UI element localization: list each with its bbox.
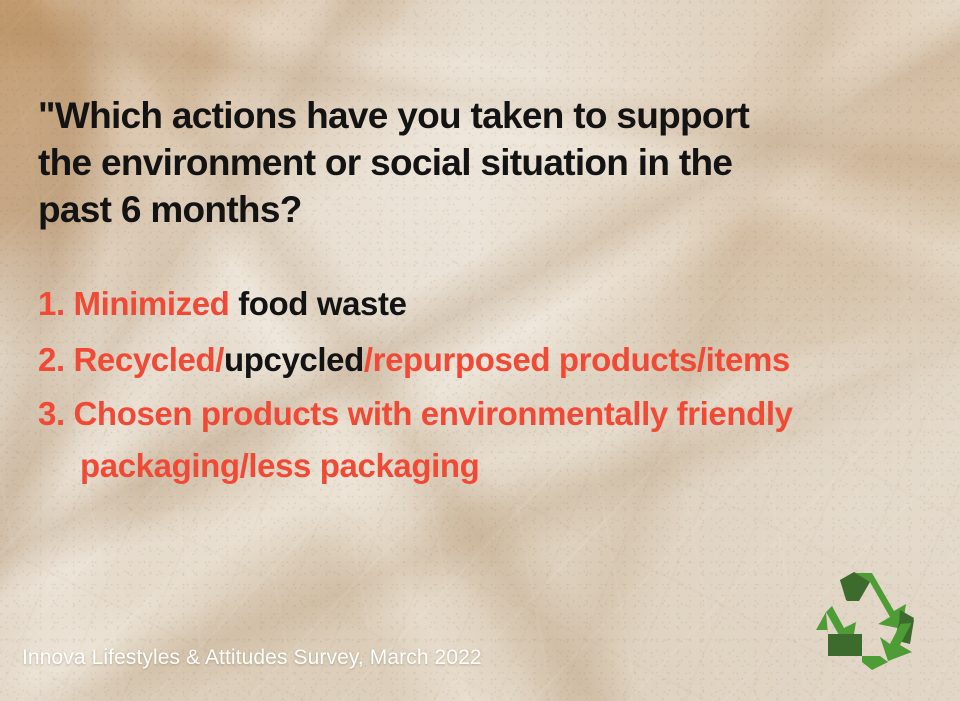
list-item-text-red-2: packaging/less packaging [38, 440, 938, 492]
list-item-text-black: food waste [229, 285, 406, 322]
list-item: 3. Chosen products with environmentally … [38, 388, 938, 492]
list-item: 1. Minimized food waste [38, 276, 943, 332]
list-item-number: 3. [38, 395, 65, 432]
list-item-text-red: Chosen products with environmentally fri… [65, 395, 793, 432]
page-title: "Which actions have you taken to support… [38, 92, 798, 233]
slide-content: "Which actions have you taken to support… [0, 0, 960, 701]
recycle-icon [802, 566, 926, 678]
list-item-text-red-2: /repurposed products/items [364, 341, 790, 378]
list-item: 2. Recycled/upcycled/repurposed products… [38, 332, 943, 388]
list-item-number: 2. [38, 341, 65, 378]
slide-canvas: "Which actions have you taken to support… [0, 0, 960, 701]
list-item-text-red: Recycled/ [65, 341, 224, 378]
actions-list: 1. Minimized food waste 2. Recycled/upcy… [38, 276, 943, 492]
list-item-text-black: upcycled [224, 341, 364, 378]
source-caption: Innova Lifestyles & Attitudes Survey, Ma… [22, 646, 482, 670]
list-item-text-red: Minimized [65, 285, 230, 322]
list-item-number: 1. [38, 285, 65, 322]
